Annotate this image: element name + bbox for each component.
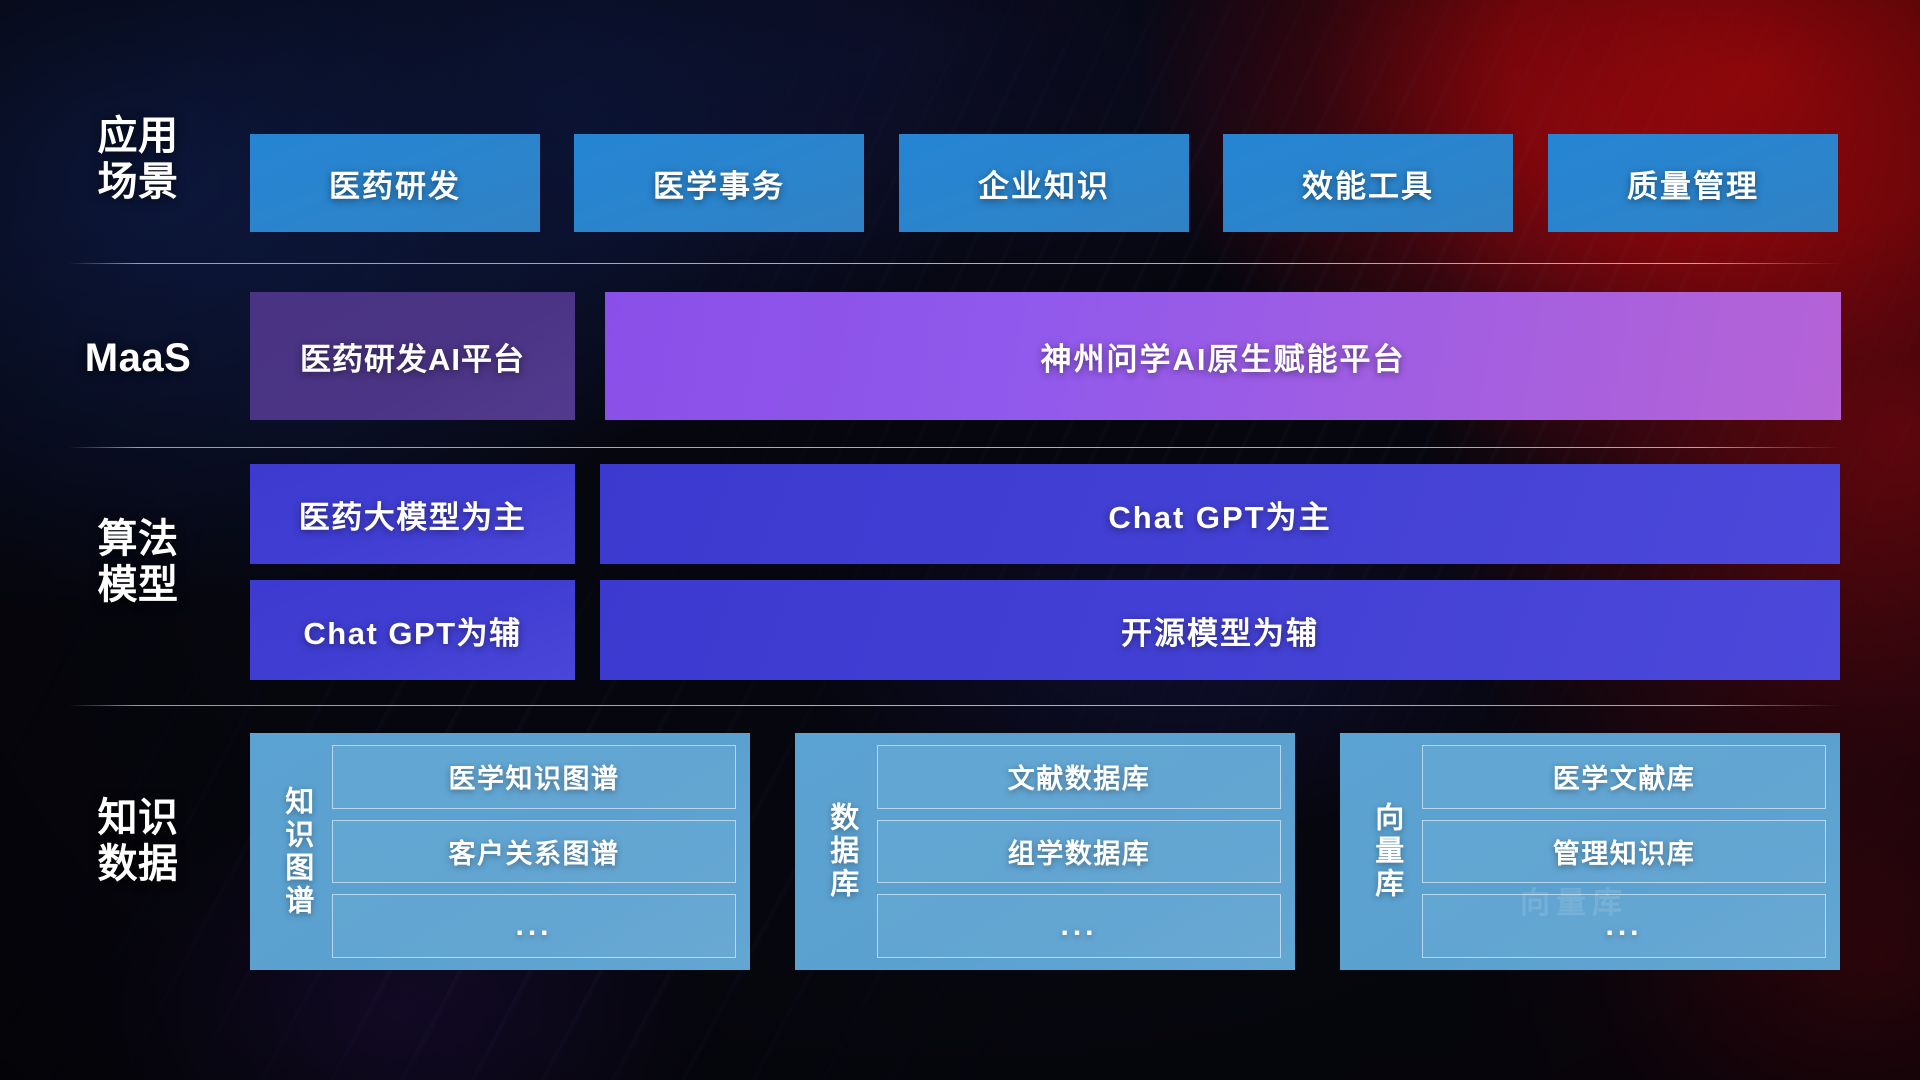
maas-box-medicine-rd-ai-platform[interactable]: 医药研发AI平台: [250, 292, 575, 420]
knowledge-item-more[interactable]: ...: [877, 894, 1281, 958]
knowledge-card-title: 数据库: [805, 745, 877, 958]
app-box-label: 企业知识: [978, 161, 1110, 206]
knowledge-card-database[interactable]: 数据库 文献数据库 组学数据库 ...: [795, 733, 1295, 970]
algo-box-label: Chat GPT为主: [1108, 492, 1331, 537]
row-label-algorithm-model: 算法 模型: [68, 516, 208, 609]
architecture-diagram: 应用 场景 医药研发 医学事务 企业知识 效能工具 质量管理 MaaS 医药研发…: [0, 0, 1920, 1080]
divider-after-algorithm-model: [68, 705, 1841, 706]
knowledge-item[interactable]: 管理知识库: [1422, 820, 1826, 884]
knowledge-card-items: 医学知识图谱 客户关系图谱 ...: [332, 745, 736, 958]
app-box-label: 质量管理: [1627, 161, 1759, 206]
app-box-efficiency-tools[interactable]: 效能工具: [1223, 134, 1513, 232]
maas-box-shenzhou-wenxue-platform[interactable]: 神州问学AI原生赋能平台: [605, 292, 1841, 420]
knowledge-card-items: 医学文献库 管理知识库 ...: [1422, 745, 1826, 958]
algo-box-label: Chat GPT为辅: [303, 608, 521, 653]
app-box-medicine-rd[interactable]: 医药研发: [250, 134, 540, 232]
algo-box-chatgpt-primary[interactable]: Chat GPT为主: [600, 464, 1840, 564]
row-label-maas: MaaS: [58, 335, 218, 381]
algo-box-label: 开源模型为辅: [1121, 608, 1319, 653]
knowledge-item[interactable]: 医学文献库: [1422, 745, 1826, 809]
divider-after-application-scenarios: [68, 263, 1841, 264]
app-box-enterprise-knowledge[interactable]: 企业知识: [899, 134, 1189, 232]
knowledge-item-more[interactable]: ...: [332, 894, 736, 958]
knowledge-item-more[interactable]: ...: [1422, 894, 1826, 958]
knowledge-item[interactable]: 组学数据库: [877, 820, 1281, 884]
maas-box-label: 医药研发AI平台: [300, 334, 525, 379]
algo-box-label: 医药大模型为主: [299, 492, 527, 537]
knowledge-card-title: 知识图谱: [260, 745, 332, 958]
knowledge-card-vector-store[interactable]: 向量库 医学文献库 管理知识库 ...: [1340, 733, 1840, 970]
divider-after-maas: [68, 447, 1841, 448]
knowledge-card-items: 文献数据库 组学数据库 ...: [877, 745, 1281, 958]
algo-box-medicine-llm-primary[interactable]: 医药大模型为主: [250, 464, 575, 564]
app-box-quality-management[interactable]: 质量管理: [1548, 134, 1838, 232]
app-box-label: 效能工具: [1302, 161, 1434, 206]
knowledge-card-knowledge-graph[interactable]: 知识图谱 医学知识图谱 客户关系图谱 ...: [250, 733, 750, 970]
knowledge-card-title: 向量库: [1350, 745, 1422, 958]
app-box-label: 医药研发: [329, 161, 461, 206]
algo-box-opensource-secondary[interactable]: 开源模型为辅: [600, 580, 1840, 680]
app-box-medical-affairs[interactable]: 医学事务: [574, 134, 864, 232]
maas-box-label: 神州问学AI原生赋能平台: [1041, 334, 1406, 379]
algo-box-chatgpt-secondary[interactable]: Chat GPT为辅: [250, 580, 575, 680]
row-label-application-scenarios: 应用 场景: [68, 113, 208, 206]
app-box-label: 医学事务: [653, 161, 785, 206]
knowledge-item[interactable]: 医学知识图谱: [332, 745, 736, 809]
knowledge-item[interactable]: 文献数据库: [877, 745, 1281, 809]
knowledge-item[interactable]: 客户关系图谱: [332, 820, 736, 884]
row-label-knowledge-data: 知识 数据: [68, 795, 208, 888]
